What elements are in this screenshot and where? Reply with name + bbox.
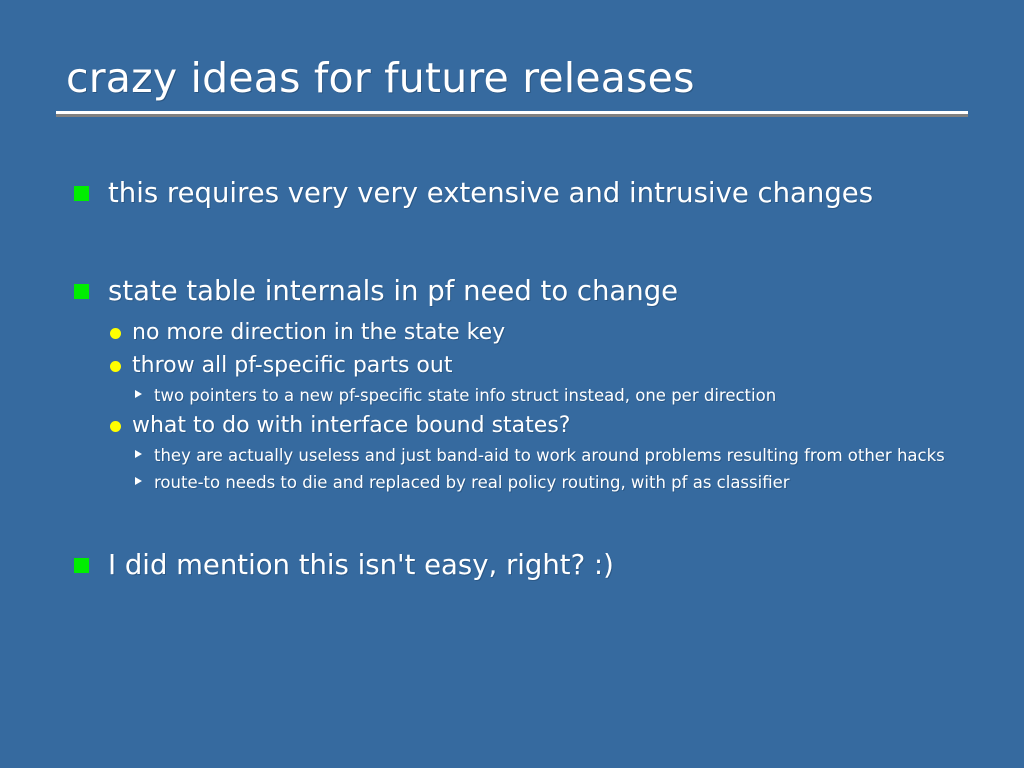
bullet-item-state-table-internals: state table internals in pf need to chan… <box>70 268 970 314</box>
white-triangle-bullet-icon <box>135 477 142 485</box>
green-square-bullet-icon <box>74 186 89 201</box>
bullet-text: no more direction in the state key <box>132 316 970 349</box>
bullet-list-level-2: no more direction in the state key throw… <box>70 316 970 496</box>
slide-body: this requires very very extensive and in… <box>70 170 970 590</box>
bullet-text: they are actually useless and just band-… <box>154 442 970 469</box>
bullet-text: route-to needs to die and replaced by re… <box>154 469 970 496</box>
page-title: crazy ideas for future releases <box>56 52 968 104</box>
slide-canvas: crazy ideas for future releases this req… <box>0 0 1024 768</box>
bullet-item-route-to-policy-routing: route-to needs to die and replaced by re… <box>132 469 970 496</box>
bullet-item-interface-bound-states: what to do with interface bound states? <box>108 409 970 442</box>
bullet-spacer <box>70 218 970 268</box>
green-square-bullet-icon <box>74 558 89 573</box>
bullet-list-level-3: two pointers to a new pf-specific state … <box>108 382 970 409</box>
bullet-item-two-pointers: two pointers to a new pf-specific state … <box>132 382 970 409</box>
bullet-list-level-3: they are actually useless and just band-… <box>108 442 970 496</box>
slide-title-block: crazy ideas for future releases <box>56 52 968 114</box>
bullet-text: this requires very very extensive and in… <box>108 170 970 216</box>
bullet-item-throw-pf-specific-parts: throw all pf-specific parts out <box>108 349 970 382</box>
bullet-item-useless-band-aid: they are actually useless and just band-… <box>132 442 970 469</box>
white-triangle-bullet-icon <box>135 450 142 458</box>
bullet-item-isnt-easy: I did mention this isn't easy, right? :) <box>70 542 970 588</box>
bullet-text: what to do with interface bound states? <box>132 409 970 442</box>
bullet-item-no-more-direction: no more direction in the state key <box>108 316 970 349</box>
green-square-bullet-icon <box>74 284 89 299</box>
bullet-text: throw all pf-specific parts out <box>132 349 970 382</box>
yellow-dot-bullet-icon <box>110 328 121 339</box>
white-triangle-bullet-icon <box>135 390 142 398</box>
sub-bullet-container: two pointers to a new pf-specific state … <box>108 382 970 409</box>
bullet-text: state table internals in pf need to chan… <box>108 268 970 314</box>
bullet-text: two pointers to a new pf-specific state … <box>154 382 970 409</box>
bullet-item-requires-changes: this requires very very extensive and in… <box>70 170 970 216</box>
yellow-dot-bullet-icon <box>110 421 121 432</box>
sub-bullet-container: no more direction in the state key throw… <box>70 316 970 496</box>
bullet-spacer <box>70 496 970 542</box>
yellow-dot-bullet-icon <box>110 361 121 372</box>
sub-bullet-container: they are actually useless and just band-… <box>108 442 970 496</box>
bullet-text: I did mention this isn't easy, right? :) <box>108 542 970 588</box>
title-underline-rule <box>56 111 968 114</box>
bullet-list-level-1: this requires very very extensive and in… <box>70 170 970 588</box>
